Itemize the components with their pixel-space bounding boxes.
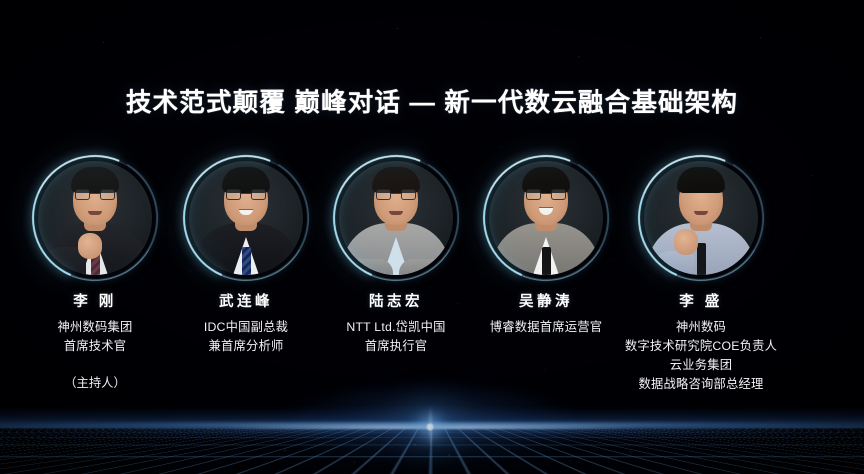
speaker-card-5: 李 盛 神州数码 数字技术研究院COE负责人 云业务集团 数据战略咨询部总经理 bbox=[616, 158, 786, 394]
speaker-name: 吴静涛 bbox=[461, 290, 631, 311]
speaker-affiliation: NTT Ltd.岱凯中国 首席执行官 bbox=[311, 318, 481, 356]
affiliation-line: 神州数码 bbox=[616, 318, 786, 337]
speaker-affiliation: 神州数码集团 首席技术官 bbox=[10, 318, 180, 356]
affiliation-line: 首席执行官 bbox=[311, 337, 481, 356]
affiliation-line: 博睿数据首席运营官 bbox=[461, 318, 631, 337]
speaker-name: 李 盛 bbox=[616, 290, 786, 311]
affiliation-line: 兼首席分析师 bbox=[161, 337, 331, 356]
affiliation-line: NTT Ltd.岱凯中国 bbox=[311, 318, 481, 337]
speaker-name: 李 刚 bbox=[10, 290, 180, 311]
page-title: 技术范式颠覆 巅峰对话 — 新一代数云融合基础架构 bbox=[0, 82, 864, 119]
data-grid-sparkles bbox=[0, 432, 864, 474]
speaker-role-note: （主持人） bbox=[10, 373, 180, 391]
speaker-affiliation: IDC中国副总裁 兼首席分析师 bbox=[161, 318, 331, 356]
speaker-affiliation: 神州数码 数字技术研究院COE负责人 云业务集团 数据战略咨询部总经理 bbox=[616, 318, 786, 394]
portrait-ring-arc-icon bbox=[13, 136, 177, 300]
portrait-ring-arc-icon bbox=[464, 136, 628, 300]
speaker-card-3: 陆志宏 NTT Ltd.岱凯中国 首席执行官 bbox=[311, 158, 481, 356]
speaker-name: 武连峰 bbox=[161, 290, 331, 311]
speaker-portrait-2 bbox=[186, 158, 306, 278]
affiliation-line: 云业务集团 bbox=[616, 356, 786, 375]
speaker-card-4: 吴静涛 博睿数据首席运营官 bbox=[461, 158, 631, 337]
speaker-portrait-4 bbox=[486, 158, 606, 278]
portrait-ring-arc-icon bbox=[164, 136, 328, 300]
affiliation-line: 数字技术研究院COE负责人 bbox=[616, 337, 786, 356]
speaker-portrait-1 bbox=[35, 158, 155, 278]
portrait-ring-arc-icon bbox=[619, 136, 783, 300]
speaker-card-2: 武连峰 IDC中国副总裁 兼首席分析师 bbox=[161, 158, 331, 356]
affiliation-line: 数据战略咨询部总经理 bbox=[616, 375, 786, 394]
vanishing-point-light bbox=[425, 422, 435, 432]
speaker-panel-row: 李 刚 神州数码集团 首席技术官 （主持人） 武连峰 IDC中国 bbox=[0, 158, 864, 398]
speaker-portrait-3 bbox=[336, 158, 456, 278]
speaker-portrait-5 bbox=[641, 158, 761, 278]
affiliation-line: 神州数码集团 bbox=[10, 318, 180, 337]
affiliation-line: IDC中国副总裁 bbox=[161, 318, 331, 337]
affiliation-line: 首席技术官 bbox=[10, 337, 180, 356]
portrait-ring-arc-icon bbox=[314, 136, 478, 300]
speaker-affiliation: 博睿数据首席运营官 bbox=[461, 318, 631, 337]
speaker-card-1: 李 刚 神州数码集团 首席技术官 （主持人） bbox=[10, 158, 180, 391]
speaker-name: 陆志宏 bbox=[311, 290, 481, 311]
